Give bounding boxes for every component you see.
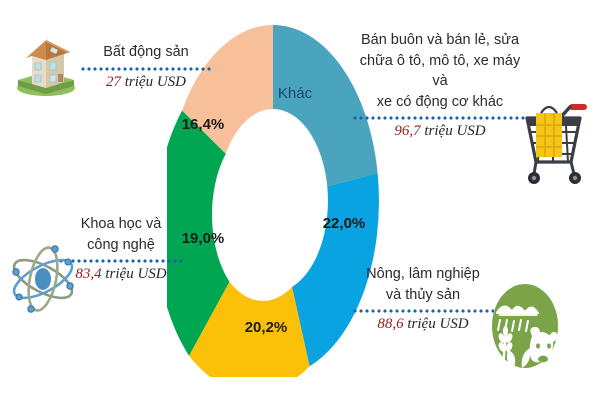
dotted-connector-agriculture [352,309,494,313]
dotted-connector-real-estate [80,67,212,71]
value-number-real-estate: 27 [106,74,121,90]
shopping-cart-icon [522,88,592,186]
agriculture-icon [486,280,564,372]
dotted-connector-retail [352,116,528,120]
callout-real-estate: Bất động sản 27 triệu USD [80,42,212,91]
value-unit-agriculture: triệu USD [407,316,468,332]
callout-value-real-estate: 27 triệu USD [80,74,212,91]
infographic-canvas: Khác 22,0% 20,2% 19,0% 16,4% Bất động sả… [0,0,600,400]
value-unit-real-estate: triệu USD [125,74,186,90]
callout-title-agriculture: Nông, lâm nghiệp và thủy sản [352,264,494,305]
slice-label-realestate: 16,4% [182,116,225,133]
slice-label-science: 19,0% [182,230,225,247]
value-unit-retail: triệu USD [424,123,485,139]
slice-label-other: Khác [278,85,313,102]
slice-label-retail: 22,0% [323,215,366,232]
callout-agriculture: Nông, lâm nghiệp và thủy sản 88,6 triệu … [352,264,494,333]
callout-value-agriculture: 88,6 triệu USD [352,316,494,333]
atom-icon [6,240,80,318]
value-unit-science-technology: triệu USD [105,266,166,282]
callout-title-real-estate: Bất động sản [80,42,212,63]
slice-label-agriculture: 20,2% [245,319,288,336]
value-number-retail: 96,7 [394,123,420,139]
callout-retail: Bán buôn và bán lẻ, sửa chữa ô tô, mô tô… [352,30,528,140]
value-number-agriculture: 88,6 [377,316,403,332]
house-icon [12,30,80,98]
callout-value-retail: 96,7 triệu USD [352,123,528,140]
callout-title-retail: Bán buôn và bán lẻ, sửa chữa ô tô, mô tô… [352,30,528,112]
